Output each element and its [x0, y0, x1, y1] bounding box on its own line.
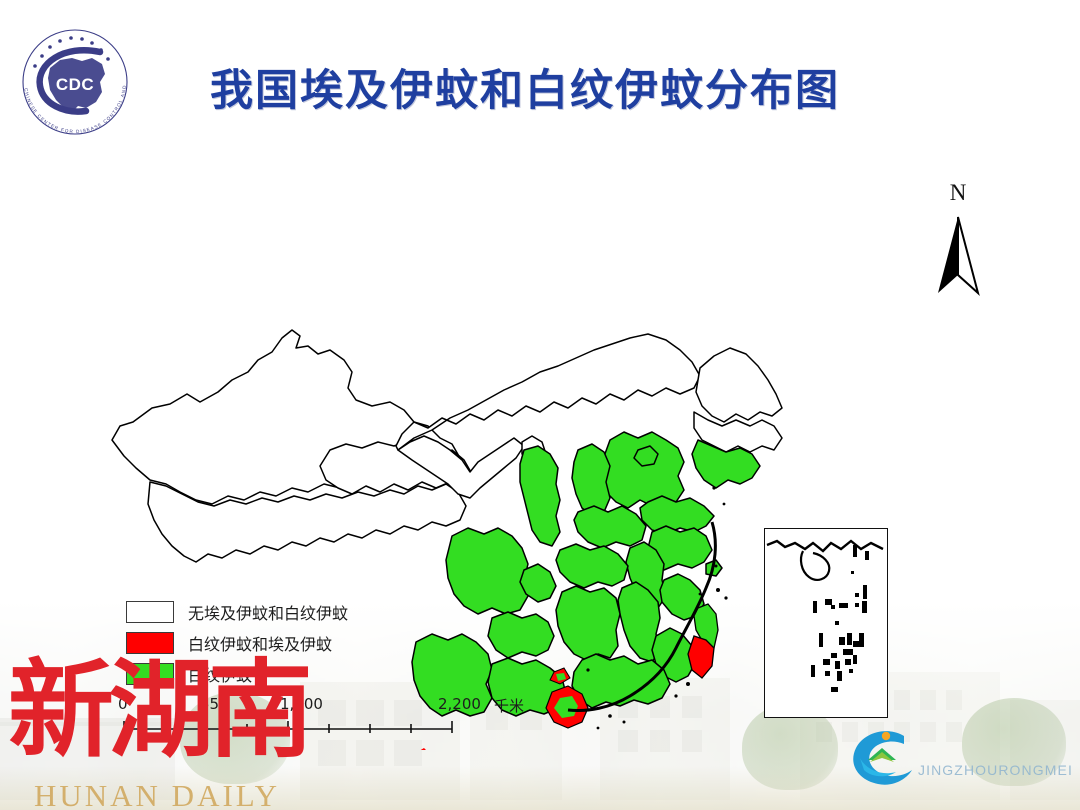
legend-item-none: 无埃及伊蚊和白纹伊蚊 [126, 596, 348, 627]
north-arrow-icon [930, 206, 986, 306]
legend-swatch-both [126, 632, 174, 654]
province-hunan [556, 586, 620, 660]
legend-item-both: 白纹伊蚊和埃及伊蚊 [126, 627, 348, 658]
legend-swatch-none [126, 601, 174, 623]
province-guizhou [488, 612, 554, 658]
map-scalebar: 0 550 1,100 2,200 千米 [122, 695, 502, 735]
page-title: 我国埃及伊蚊和白纹伊蚊分布图 [210, 56, 970, 118]
province-sichuan [446, 528, 528, 614]
china-cdc-logo: CDC CHINESE CENTER FOR DISEASE CONTROL A… [12, 16, 138, 142]
hunan-daily-watermark: HUNAN DAILY [34, 778, 280, 810]
scale-tick-550: 550 [200, 695, 229, 713]
province-shaanxi [520, 446, 560, 546]
map-legend: 无埃及伊蚊和白纹伊蚊 白纹伊蚊和埃及伊蚊 白纹伊蚊 [126, 596, 348, 689]
slide-canvas: CDC CHINESE CENTER FOR DISEASE CONTROL A… [0, 0, 1080, 810]
province-hebei [600, 432, 684, 508]
legend-label-albopictus: 白纹伊蚊 [188, 662, 252, 686]
legend-label-none: 无埃及伊蚊和白纹伊蚊 [188, 600, 348, 624]
legend-item-albopictus: 白纹伊蚊 [126, 658, 348, 689]
north-label: N [934, 180, 982, 206]
inset-svg [765, 529, 886, 716]
jingzhou-rongmei-text: JINGZHOURONGMEI [918, 762, 1073, 778]
scale-tick-2200: 2,200 [438, 695, 481, 713]
province-henan [574, 506, 646, 548]
legend-swatch-albopictus [126, 663, 174, 685]
scale-tick-0: 0 [118, 695, 128, 713]
province-heilongjiang [696, 348, 782, 422]
province-shanxi [572, 444, 610, 516]
province-hubei [556, 544, 628, 588]
scalebar-labels: 0 550 1,100 2,200 千米 [122, 695, 502, 713]
jingzhou-rongmei-logo [848, 726, 916, 788]
scale-unit: 千米 [494, 695, 524, 716]
scalebar-ruler [122, 717, 502, 735]
scale-tick-1100: 1,100 [280, 695, 323, 713]
legend-label-both: 白纹伊蚊和埃及伊蚊 [188, 631, 332, 655]
province-shandong [640, 496, 714, 534]
svg-text:CDC: CDC [56, 75, 94, 94]
province-yunnan-red-sw [408, 748, 432, 750]
south-china-sea-inset [764, 528, 888, 718]
